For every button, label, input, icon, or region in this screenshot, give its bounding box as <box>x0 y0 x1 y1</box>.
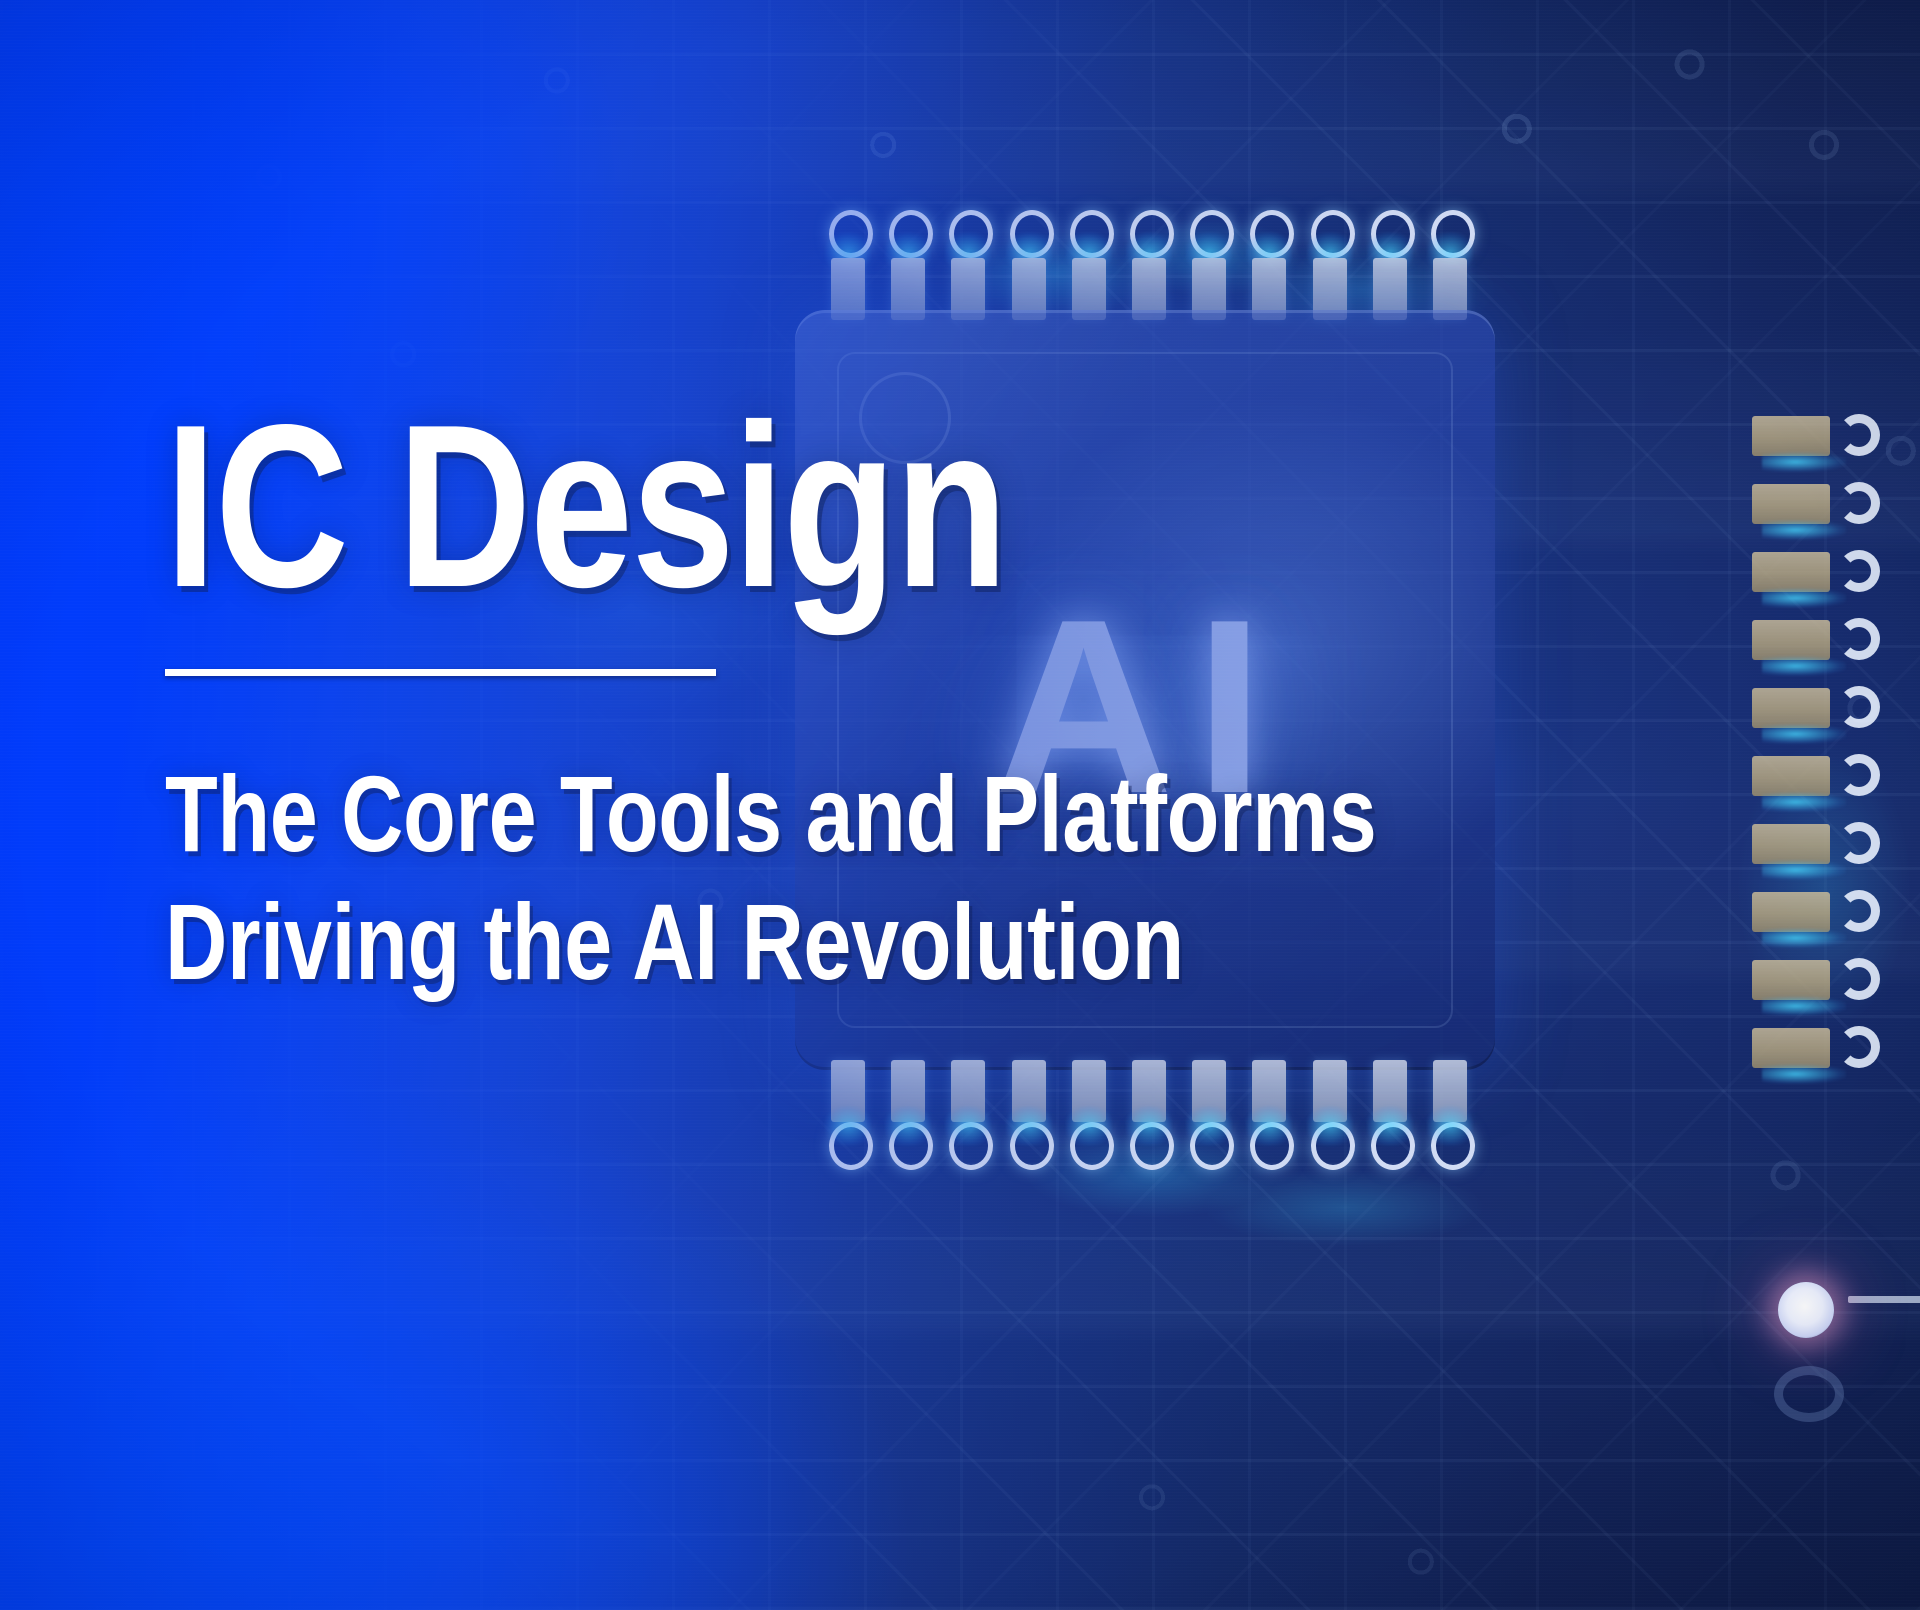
poster-canvas: AI IC Design <box>0 0 1920 1610</box>
subtitle-line-2: Driving the AI Revolution <box>165 878 1173 1005</box>
page-title: IC Design <box>165 400 1173 613</box>
title-divider-rule <box>165 669 716 676</box>
subtitle-block: The Core Tools and Platforms Driving the… <box>165 750 1173 1005</box>
subtitle-line-1: The Core Tools and Platforms <box>165 750 1173 877</box>
headline-block: IC Design The Core Tools and Platforms D… <box>165 400 1425 1005</box>
